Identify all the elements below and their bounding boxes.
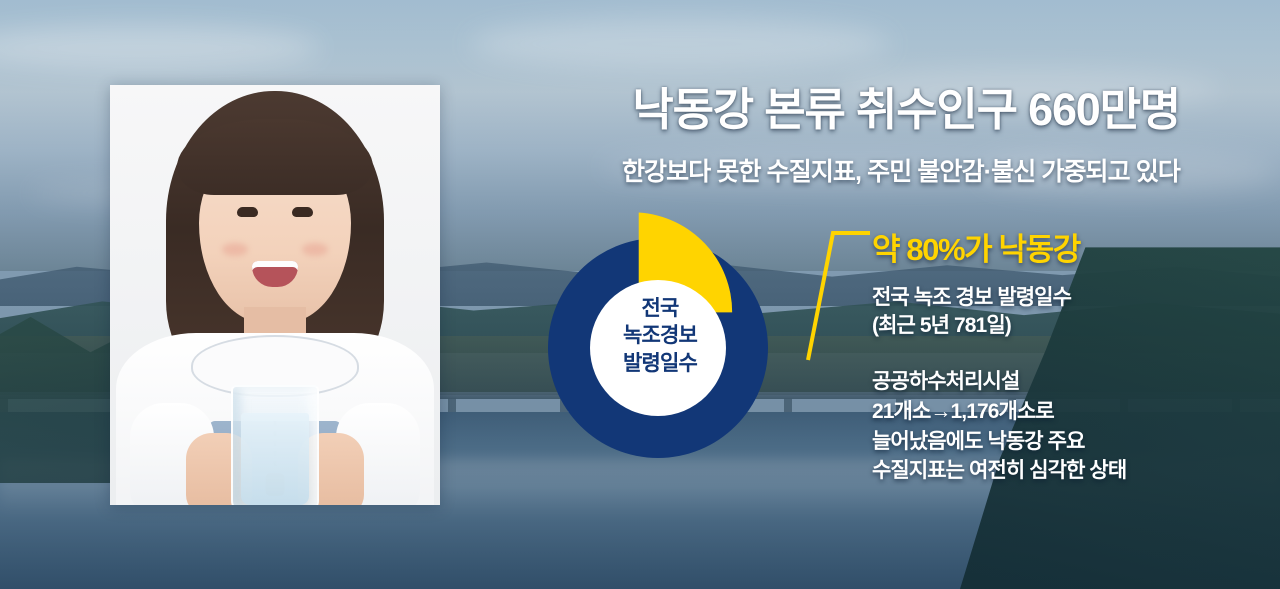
child-cheek-right — [302, 243, 328, 256]
page-subtitle: 한강보다 못한 수질지표, 주민 불안감·불신 가중되고 있다 — [500, 152, 1180, 188]
callout-body-line-3: 늘어났음에도 낙동강 주요 — [872, 427, 1126, 457]
child-eye-left — [237, 207, 258, 217]
child-eye-right — [292, 207, 313, 217]
green-algae-alert-donut-chart — [520, 185, 860, 505]
callout-sub-line-2: (최근 5년 781일) — [872, 312, 1071, 340]
infographic-canvas: 낙동강 본류 취수인구 660만명 한강보다 못한 수질지표, 주민 불안감·불… — [0, 0, 1280, 589]
callout-body-text: 공공하수처리시설 21개소→1,176개소로 늘어났음에도 낙동강 주요 수질지… — [872, 367, 1126, 486]
child-cheek-left — [222, 243, 248, 256]
donut-inner-hole — [590, 280, 726, 416]
callout-body-line-1: 공공하수처리시설 — [872, 367, 1126, 397]
callout-sub-line-1: 전국 녹조 경보 발령일수 — [872, 284, 1071, 312]
child-drinking-water-photo — [110, 85, 440, 505]
callout-body-line-4: 수질지표는 여전히 심각한 상태 — [872, 456, 1126, 486]
callout-body-line-2: 21개소→1,176개소로 — [872, 397, 1126, 427]
callout-headline: 약 80%가 낙동강 — [872, 224, 1080, 269]
water-glass — [231, 385, 319, 505]
callout-subtext: 전국 녹조 경보 발령일수 (최근 5년 781일) — [872, 284, 1071, 341]
donut-chart-svg — [520, 185, 860, 505]
page-title: 낙동강 본류 취수인구 660만명 — [500, 86, 1180, 135]
